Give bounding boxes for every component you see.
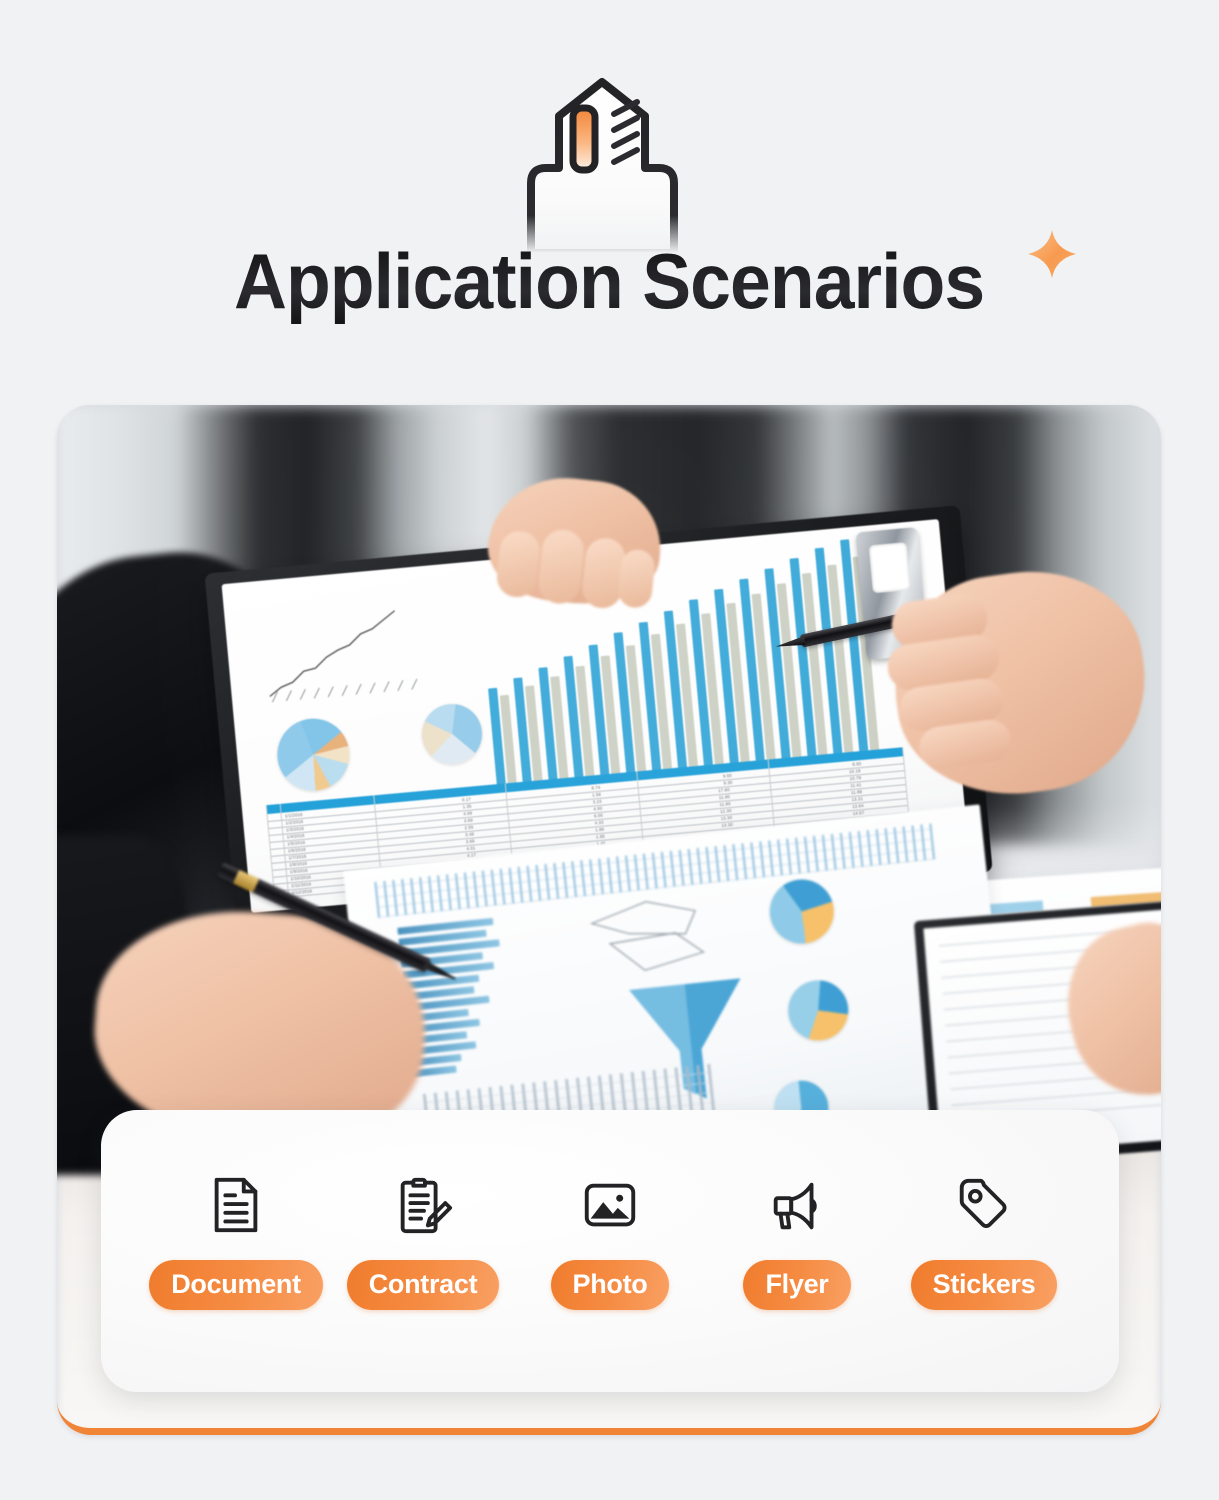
page-header: Application Scenarios (0, 0, 1219, 390)
category-item-contract[interactable]: Contract (334, 1168, 512, 1310)
document-icon (199, 1168, 273, 1242)
desk-pie-chart-2 (785, 977, 851, 1043)
category-label-document[interactable]: Document (149, 1260, 323, 1310)
category-item-document[interactable]: Document (147, 1168, 325, 1310)
tag-icon (947, 1168, 1021, 1242)
category-label-stickers[interactable]: Stickers (911, 1260, 1058, 1310)
sparkle-icon (1026, 228, 1078, 280)
category-item-stickers[interactable]: Stickers (895, 1168, 1073, 1310)
photo-icon (573, 1168, 647, 1242)
polygon-chart (586, 887, 734, 981)
report-pie-chart-2 (419, 701, 484, 766)
office-building-icon (495, 68, 710, 253)
category-label-flyer[interactable]: Flyer (743, 1260, 850, 1310)
desk-pie-chart-1 (767, 876, 837, 946)
contract-icon (386, 1168, 460, 1242)
category-label-contract[interactable]: Contract (347, 1260, 500, 1310)
page-title: Application Scenarios (234, 238, 984, 324)
category-item-flyer[interactable]: Flyer (708, 1168, 886, 1310)
category-card: Document Contract Photo (101, 1110, 1119, 1392)
megaphone-icon (760, 1168, 834, 1242)
category-item-photo[interactable]: Photo (521, 1168, 699, 1310)
category-label-photo[interactable]: Photo (551, 1260, 670, 1310)
report-pie-chart-1 (274, 716, 352, 794)
line-chart (259, 599, 466, 705)
